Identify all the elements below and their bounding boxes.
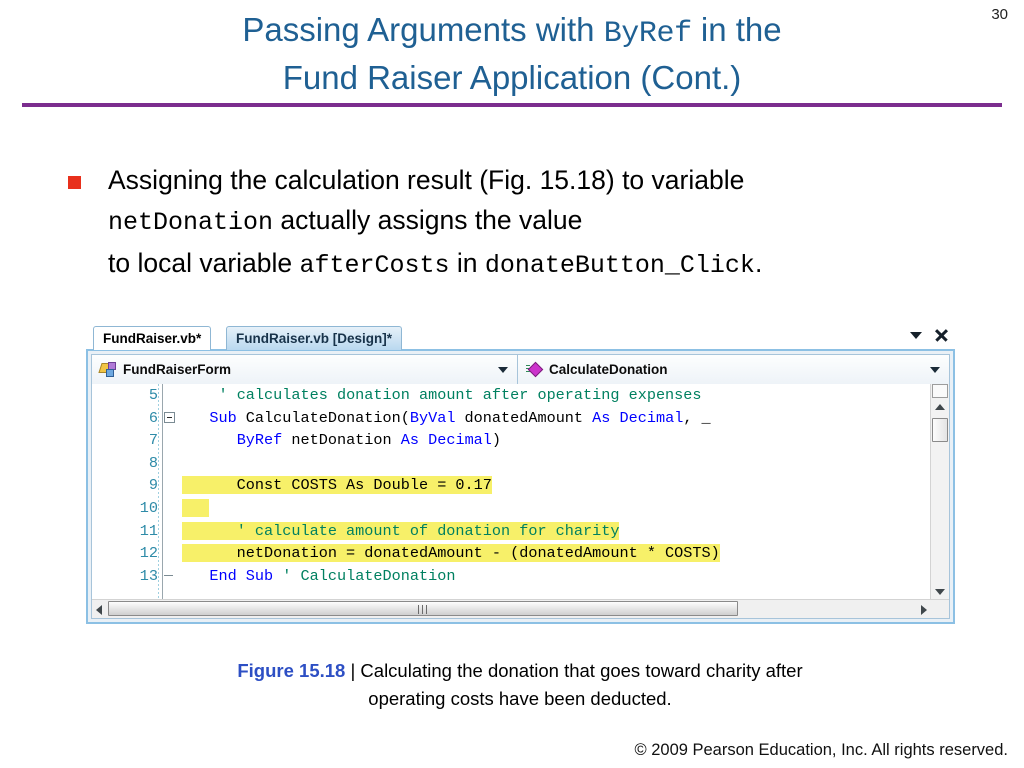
line-number: 13 <box>92 565 158 588</box>
bullet-text: Assigning the calculation result (Fig. 1… <box>108 160 998 286</box>
bullet-segment-4: to local variable <box>108 248 300 278</box>
code-highlight: netDonation = donatedAmount - (donatedAm… <box>182 544 720 562</box>
line-number: 10 <box>92 497 158 520</box>
bullet-code-netdonation: netDonation <box>108 208 273 237</box>
collapse-minus-icon[interactable] <box>164 412 175 423</box>
line-number: 12 <box>92 542 158 565</box>
scroll-down-icon[interactable] <box>935 589 945 595</box>
code-line-text: ByRef netDonation As Decimal) <box>182 429 501 452</box>
title-divider <box>22 103 1002 107</box>
bullet-segment-3: actually assigns the value <box>273 205 582 235</box>
code-line[interactable]: 13 End Sub ' CalculateDonation <box>92 565 931 588</box>
code-line-list: 5 ' calculates donation amount after ope… <box>92 384 931 587</box>
code-highlight: ' calculate amount of donation for chari… <box>182 522 619 540</box>
bullet-block: Assigning the calculation result (Fig. 1… <box>68 160 998 286</box>
copyright-footer: © 2009 Pearson Education, Inc. All right… <box>634 741 1008 760</box>
code-line[interactable]: 12 netDonation = donatedAmount - (donate… <box>92 542 931 565</box>
figure-caption-separator: | <box>345 660 360 681</box>
class-dropdown[interactable]: FundRaiserForm <box>92 355 518 384</box>
page-title-line2: Fund Raiser Application (Cont.) <box>0 56 1024 99</box>
page-title-line1: Passing Arguments with ByRef in the <box>0 8 1024 56</box>
scroll-right-icon[interactable] <box>921 605 927 615</box>
method-icon <box>526 362 543 377</box>
code-line-text: ' calculate amount of donation for chari… <box>182 520 619 543</box>
member-navigation-bar: FundRaiserForm CalculateDonation <box>92 355 949 384</box>
bullet-marker-icon <box>68 176 81 189</box>
member-dropdown-label: CalculateDonation <box>549 362 668 377</box>
member-dropdown[interactable]: CalculateDonation <box>518 355 949 384</box>
bullet-segment-1: Assigning the calculation result (Fig. 1… <box>108 165 744 195</box>
chevron-down-icon[interactable] <box>910 332 922 339</box>
figure-caption-label: Figure 15.18 <box>237 660 345 681</box>
bullet-segment-6: in <box>450 248 485 278</box>
code-line[interactable]: 5 ' calculates donation amount after ope… <box>92 384 931 407</box>
horizontal-scroll-thumb[interactable] <box>108 601 738 616</box>
code-line[interactable]: 6 Sub CalculateDonation(ByVal donatedAmo… <box>92 407 931 430</box>
line-number: 6 <box>92 407 158 430</box>
chevron-down-icon[interactable] <box>930 367 940 373</box>
code-line-text: Const COSTS As Double = 0.17 <box>182 474 492 497</box>
line-number: 5 <box>92 384 158 407</box>
code-line-text: End Sub ' CalculateDonation <box>182 565 455 588</box>
code-highlight: Const COSTS As Double = 0.17 <box>182 476 492 494</box>
line-number: 7 <box>92 429 158 452</box>
close-icon[interactable] <box>933 327 949 343</box>
fold-end-icon <box>164 575 173 576</box>
bullet-code-aftercosts: afterCosts <box>300 251 450 280</box>
vertical-scroll-thumb[interactable] <box>932 418 948 442</box>
page-title: Passing Arguments with ByRef in the Fund… <box>0 8 1024 99</box>
figure-caption-line2: operating costs have been deducted. <box>368 688 671 709</box>
vertical-scrollbar[interactable] <box>930 384 949 600</box>
ide-window: FundRaiser.vb* FundRaiser.vb [Design]* F… <box>86 324 955 624</box>
page-title-line1-suffix: in the <box>692 11 782 48</box>
line-number: 9 <box>92 474 158 497</box>
code-line[interactable]: 9 Const COSTS As Double = 0.17 <box>92 474 931 497</box>
tab-strip-actions <box>910 327 949 343</box>
figure-caption: Figure 15.18 | Calculating the donation … <box>150 657 890 713</box>
code-line-text: netDonation = donatedAmount - (donatedAm… <box>182 542 720 565</box>
code-line[interactable]: 8 <box>92 452 931 475</box>
editor-tab-strip: FundRaiser.vb* FundRaiser.vb [Design]* <box>86 324 955 350</box>
code-editor[interactable]: 5 ' calculates donation amount after ope… <box>92 384 949 618</box>
horizontal-scrollbar[interactable] <box>92 599 949 618</box>
code-line-text: Sub CalculateDonation(ByVal donatedAmoun… <box>182 407 711 430</box>
scroll-left-icon[interactable] <box>96 605 102 615</box>
tab-fundraiser-vb-design[interactable]: FundRaiser.vb [Design]* <box>226 326 402 350</box>
editor-inner: FundRaiserForm CalculateDonation 5 ' cal… <box>91 354 950 619</box>
bullet-code-donatebutton-click: donateButton_Click <box>485 251 755 280</box>
editor-frame: FundRaiserForm CalculateDonation 5 ' cal… <box>86 349 955 624</box>
code-line[interactable]: 11 ' calculate amount of donation for ch… <box>92 520 931 543</box>
page-title-line1-prefix: Passing Arguments with <box>242 11 603 48</box>
class-icon <box>100 362 117 377</box>
line-number: 11 <box>92 520 158 543</box>
code-line[interactable]: 7 ByRef netDonation As Decimal) <box>92 429 931 452</box>
scroll-thumb-grip <box>418 605 428 614</box>
line-number: 8 <box>92 452 158 475</box>
chevron-down-icon[interactable] <box>498 367 508 373</box>
figure-caption-line1: Calculating the donation that goes towar… <box>360 660 802 681</box>
code-line[interactable]: 10 <box>92 497 931 520</box>
code-scroll-region[interactable]: 5 ' calculates donation amount after ope… <box>92 384 931 600</box>
class-dropdown-label: FundRaiserForm <box>123 362 231 377</box>
code-line-text <box>182 497 209 520</box>
tab-fundraiser-vb[interactable]: FundRaiser.vb* <box>93 326 211 350</box>
split-view-handle[interactable] <box>932 384 948 398</box>
bullet-segment-8: . <box>755 248 762 278</box>
code-line-text: ' calculates donation amount after opera… <box>182 384 702 407</box>
code-highlight <box>182 499 209 517</box>
page-title-keyword-byref: ByRef <box>604 17 692 51</box>
scroll-up-icon[interactable] <box>935 404 945 410</box>
